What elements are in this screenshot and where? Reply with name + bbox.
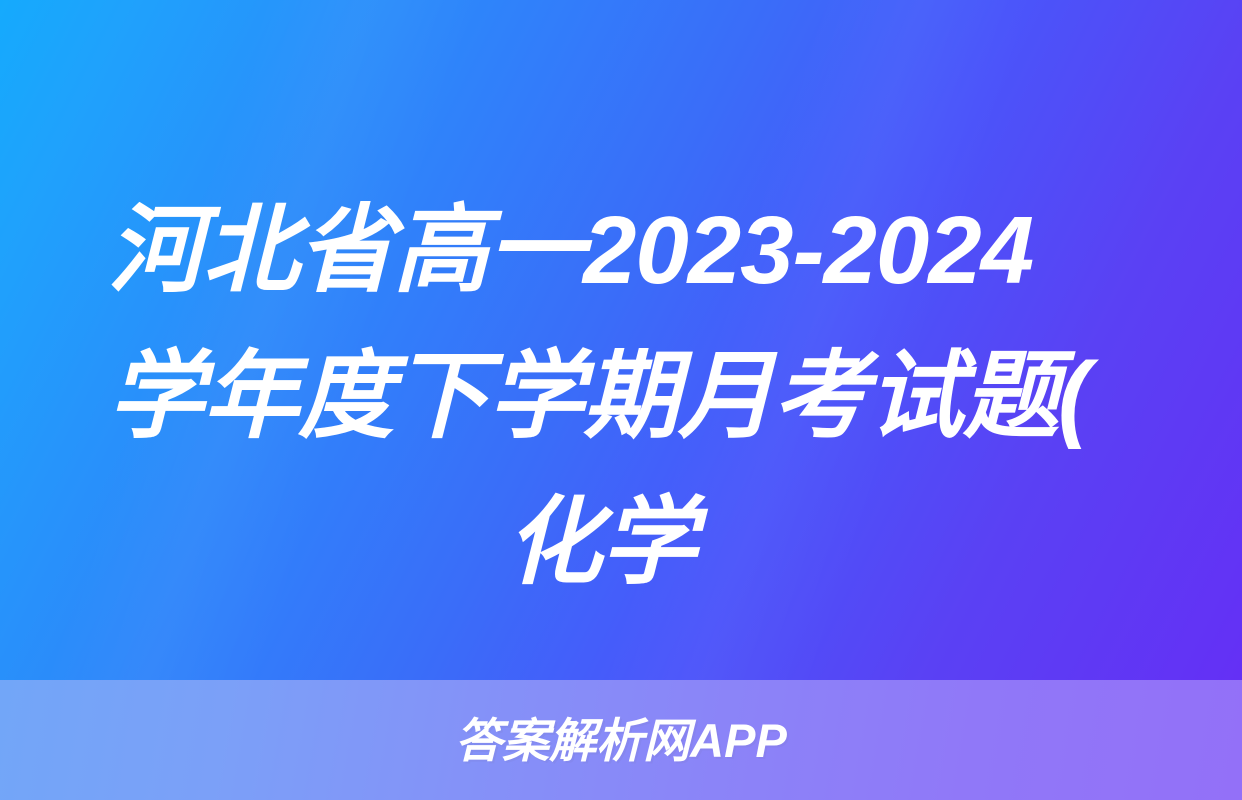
poster-canvas: 河北省高一2023-2024 学年度下学期月考试题( 化学 答案解析网APP: [0, 0, 1242, 800]
brand-watermark-label: 答案解析网APP: [455, 717, 787, 764]
footer-brand-band: 答案解析网APP: [0, 680, 1242, 800]
title-line-1: 河北省高一2023-2024: [108, 178, 1168, 324]
title-line-3: 化学: [108, 470, 1168, 616]
hero-gradient-background: 河北省高一2023-2024 学年度下学期月考试题( 化学: [0, 0, 1242, 680]
title-line-2: 学年度下学期月考试题(: [108, 324, 1168, 470]
page-title: 河北省高一2023-2024 学年度下学期月考试题( 化学: [108, 178, 1168, 616]
